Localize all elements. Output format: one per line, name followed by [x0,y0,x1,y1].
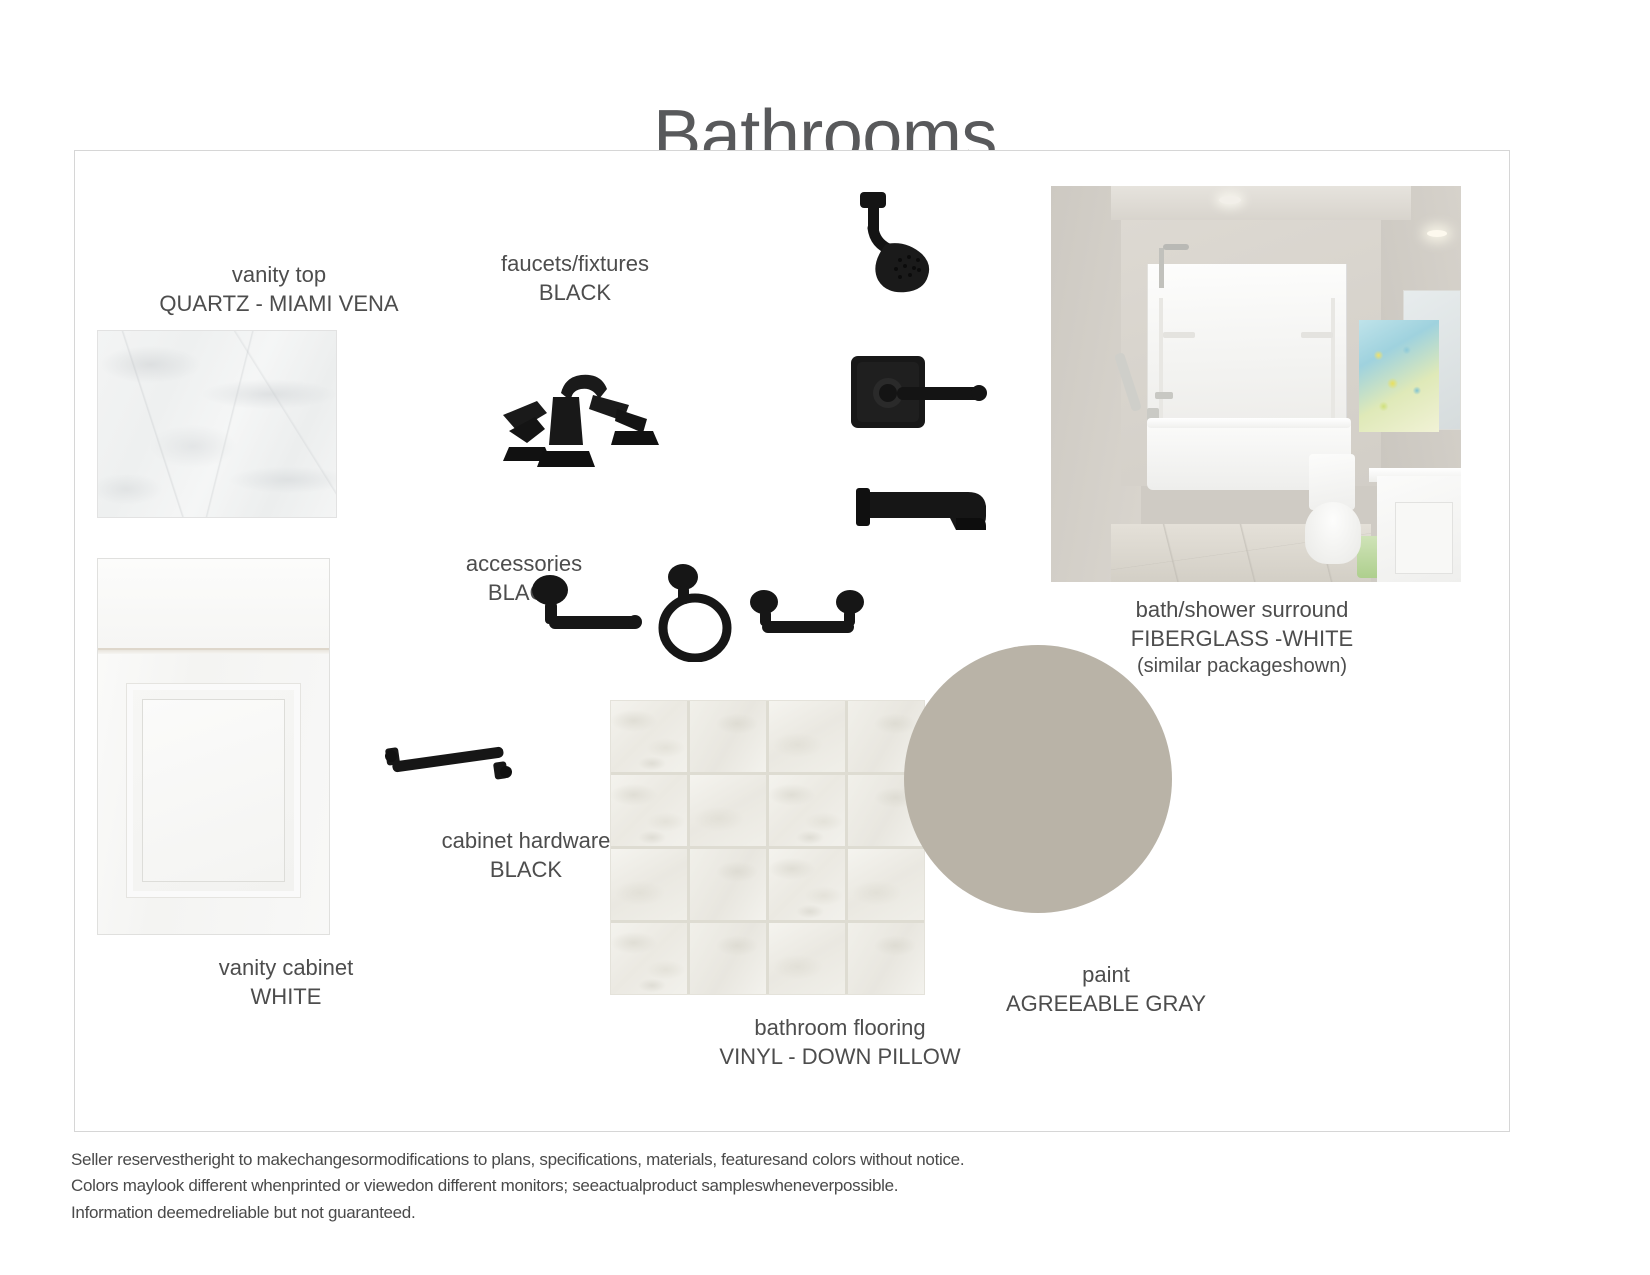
floor-tile [848,849,924,920]
vanity-cabinet-value: WHITE [116,983,456,1012]
bath-shower-surround-photo [1051,186,1461,582]
vanity-cabinet-label: vanity cabinet [116,954,456,983]
vanity-cabinet-swatch [97,558,330,935]
faucets-value: BLACK [405,279,745,308]
floor-tile [690,923,766,994]
faucets-caption: faucets/fixtures BLACK [405,250,745,307]
paint-caption: paint AGREEABLE GRAY [880,961,1332,1018]
vanity-top-label: vanity top [109,261,449,290]
floor-tile [769,849,845,920]
cabinet-panel-inner [142,699,285,882]
floor-tile [690,775,766,846]
paint-label: paint [880,961,1332,990]
floor-tile [611,775,687,846]
towel-bar-icon [525,570,645,650]
bath-surround-value: FIBERGLASS -WHITE [1012,625,1472,654]
floor-tile [611,701,687,772]
vanity-top-caption: vanity top QUARTZ - MIAMI VENA [109,261,449,318]
cabinet-panel-outer [126,683,301,898]
floor-tile [769,775,845,846]
floor-tile [769,701,845,772]
flooring-label: bathroom flooring [600,1014,1080,1043]
floor-tile [690,701,766,772]
shower-valve-trim-icon [845,350,1005,440]
floor-tile [848,923,924,994]
floor-tile [690,849,766,920]
tub-spout-icon [852,478,1002,548]
disclaimer-line-3: Information deemedreliable but not guara… [71,1200,1171,1226]
towel-ring-icon [645,562,750,662]
flooring-value: VINYL - DOWN PILLOW [600,1043,1080,1072]
vanity-top-swatch [97,330,337,518]
vanity-cabinet-caption: vanity cabinet WHITE [116,954,456,1011]
cabinet-drawer-face [98,559,329,651]
lavatory-faucet-icon [465,355,665,480]
shower-head-icon [824,186,954,296]
disclaimer-line-1: Seller reservestheright to makechangesor… [71,1147,1171,1173]
paint-color-swatch [904,645,1172,913]
tile-grid [611,701,924,994]
floor-tile [611,923,687,994]
paint-value: AGREEABLE GRAY [880,990,1332,1019]
disclaimer-line-2: Colors maylook different whenprinted or … [71,1173,1171,1199]
cabinet-pull-icon [382,742,517,786]
flooring-caption: bathroom flooring VINYL - DOWN PILLOW [600,1014,1080,1071]
vanity-top-value: QUARTZ - MIAMI VENA [109,290,449,319]
floor-tile [769,923,845,994]
faucets-label: faucets/fixtures [405,250,745,279]
bath-surround-label: bath/shower surround [1012,596,1472,625]
bathroom-flooring-swatch [610,700,925,995]
floor-tile [611,849,687,920]
disclaimer-text: Seller reservestheright to makechangesor… [71,1147,1171,1226]
toilet-paper-holder-icon [748,588,868,648]
